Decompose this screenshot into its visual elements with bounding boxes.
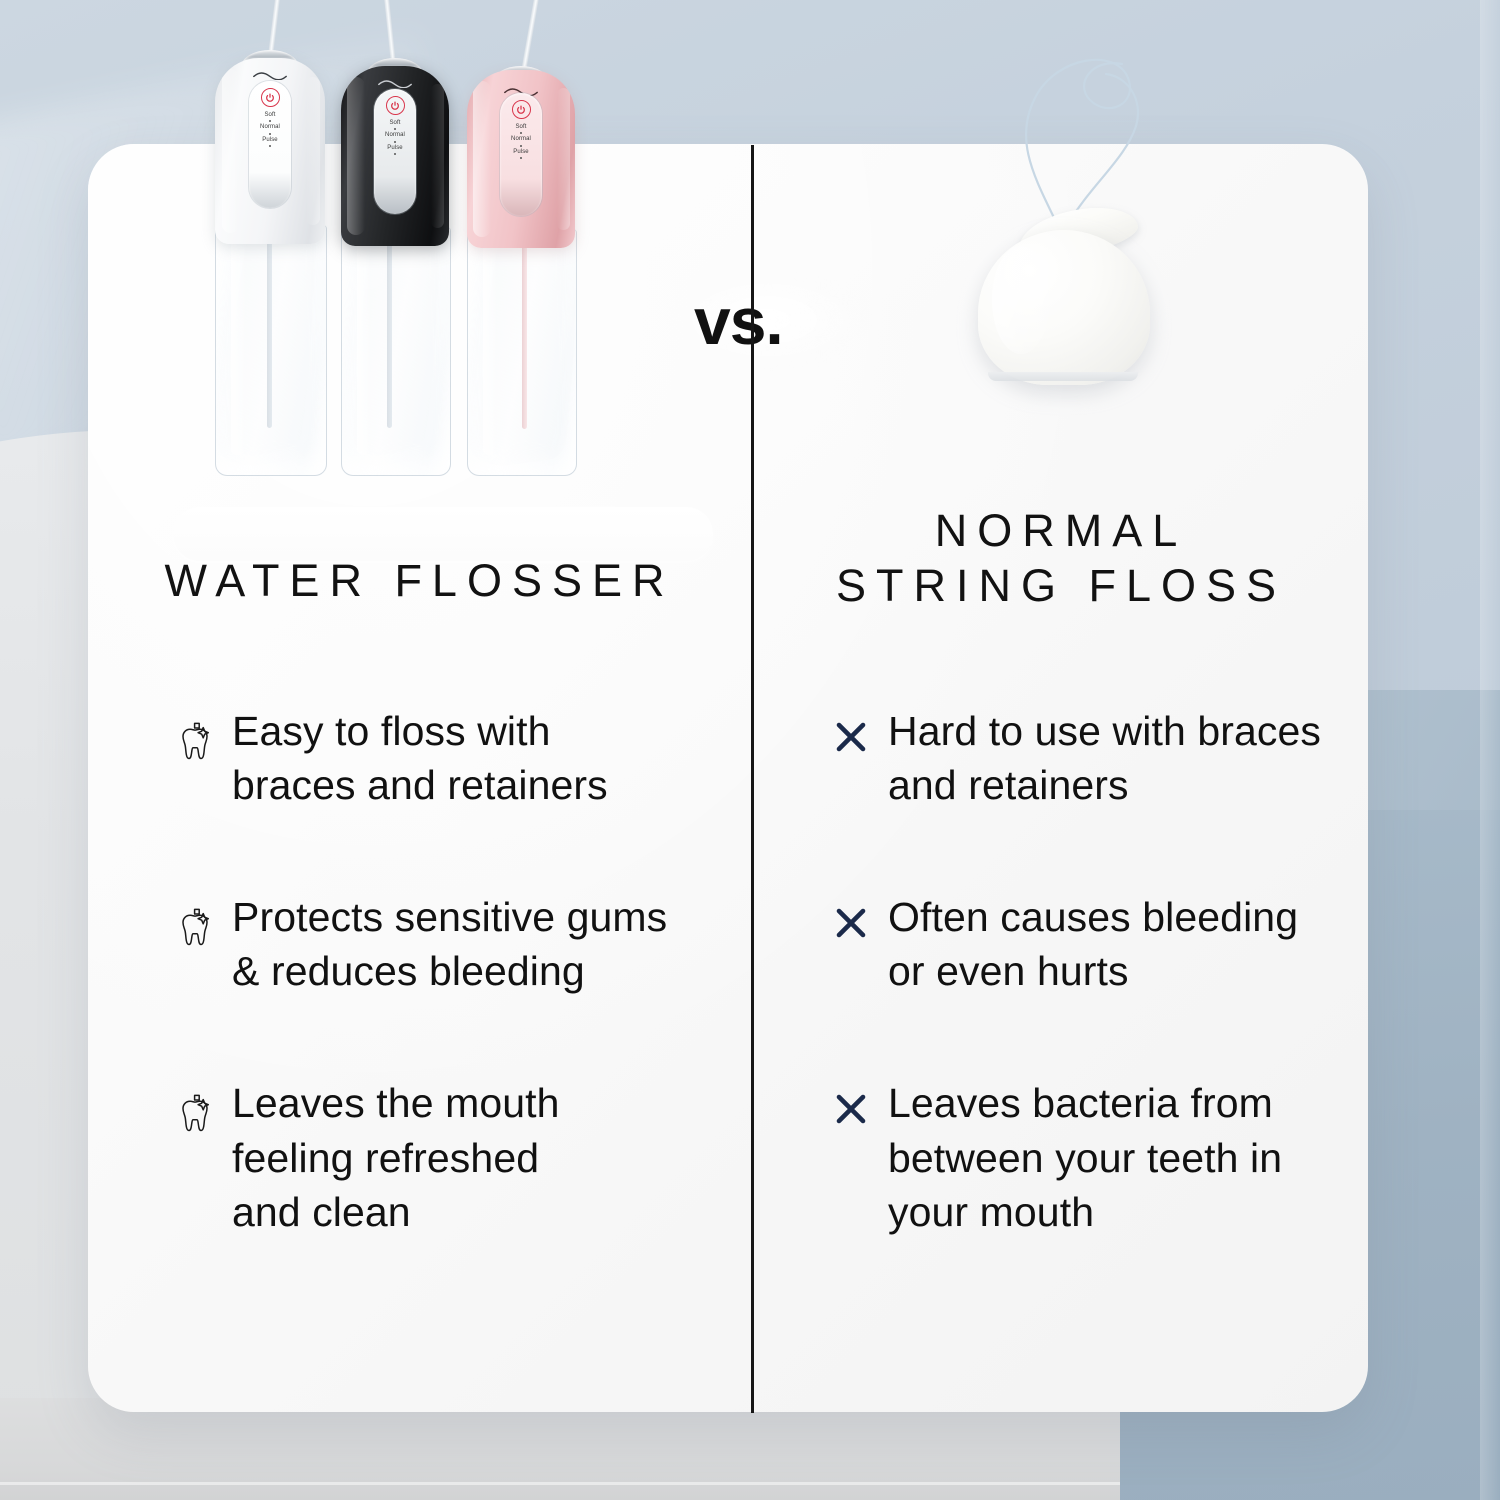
water-tank [341, 227, 451, 476]
wave-emblem [377, 79, 414, 88]
mode-indicator-dot [520, 157, 522, 159]
feature-item: Often causes bleeding or even hurts [814, 890, 1374, 998]
mode-indicator-dot [394, 128, 396, 130]
feature-item: Leaves the mouth feeling refreshed and c… [158, 1076, 758, 1238]
water-tank [215, 225, 327, 476]
feature-mark [158, 704, 232, 770]
feature-mark [158, 1076, 232, 1142]
mode-label: Pulse [262, 137, 278, 143]
heading-string-floss: NORMAL STRING FLOSS [754, 504, 1368, 614]
wave-emblem [251, 71, 288, 80]
feature-mark [814, 1076, 888, 1128]
power-button-icon[interactable] [261, 88, 280, 107]
heading-highlight-pill [173, 507, 713, 561]
versus-label: vs. [694, 284, 783, 358]
handle-sheen-right [306, 77, 319, 226]
feature-mark [158, 890, 232, 956]
tooth-sparkle-icon [169, 718, 221, 770]
string-floss-container [960, 30, 1220, 430]
intake-straw [267, 233, 272, 428]
handle-sheen-right [431, 84, 444, 228]
tooth-sparkle-icon [169, 1090, 221, 1142]
x-icon [832, 904, 870, 942]
mode-indicator-dot [269, 120, 271, 122]
handle-sheen-left [473, 81, 490, 238]
mode-indicator-dot [269, 133, 271, 135]
water-tank [467, 229, 577, 476]
floss-container-base [988, 372, 1138, 381]
mode-indicator-dot [394, 153, 396, 155]
comparison-infographic: WATER FLOSSER Easy to floss with braces … [0, 0, 1500, 1500]
feature-text: Often causes bleeding or even hurts [888, 890, 1298, 998]
mode-list: Soft Normal Pulse [385, 120, 405, 156]
handle-sheen-right [557, 88, 570, 230]
control-panel[interactable]: Soft Normal Pulse [249, 81, 291, 208]
mode-indicator-dot [269, 145, 271, 147]
handle-sheen-left [347, 77, 364, 235]
feature-item: Protects sensitive gums & reduces bleedi… [158, 890, 758, 998]
power-button-icon[interactable] [512, 100, 531, 119]
feature-item: Leaves bacteria from between your teeth … [814, 1076, 1374, 1238]
mode-indicator-dot [520, 132, 522, 134]
feature-list-water-flosser: Easy to floss with braces and retainers … [158, 704, 758, 1239]
nozzle-tip [377, 0, 396, 64]
mode-label: Normal [385, 132, 405, 138]
mode-label: Pulse [513, 149, 529, 155]
background-right-edge-highlight [1480, 0, 1500, 1500]
feature-list-string-floss: Hard to use with braces and retainers Of… [814, 704, 1374, 1239]
intake-straw [522, 237, 527, 429]
mode-indicator-dot [520, 145, 522, 147]
mode-label: Soft [389, 120, 400, 126]
feature-text: Leaves bacteria from between your teeth … [888, 1076, 1282, 1238]
mode-label: Normal [260, 124, 280, 130]
control-panel[interactable]: Soft Normal Pulse [500, 93, 542, 216]
power-button-icon[interactable] [386, 96, 405, 115]
feature-mark [814, 704, 888, 756]
background-grey-band-line [0, 1482, 1120, 1485]
mode-indicator-dot [394, 141, 396, 143]
mode-list: Soft Normal Pulse [260, 112, 280, 148]
versus-label-wrap: vs. [694, 288, 783, 354]
vertical-divider [751, 145, 754, 1413]
water-flosser-device-white: Soft Normal Pulse [215, 16, 325, 476]
feature-text: Hard to use with braces and retainers [888, 704, 1321, 812]
control-panel[interactable]: Soft Normal Pulse [374, 89, 416, 214]
feature-item: Hard to use with braces and retainers [814, 704, 1374, 812]
mode-list: Soft Normal Pulse [511, 124, 531, 160]
feature-text: Protects sensitive gums & reduces bleedi… [232, 890, 667, 998]
tooth-sparkle-icon [169, 904, 221, 956]
x-icon [832, 718, 870, 756]
intake-straw [387, 235, 392, 428]
feature-text: Easy to floss with braces and retainers [232, 704, 608, 812]
water-flosser-trio: Soft Normal Pulse [215, 0, 575, 476]
feature-item: Easy to floss with braces and retainers [158, 704, 758, 812]
handle-sheen-left [222, 69, 240, 233]
water-flosser-device-pink: Soft Normal Pulse [467, 32, 575, 476]
mode-label: Soft [264, 112, 275, 118]
nozzle-tip [521, 0, 547, 72]
feature-mark [814, 890, 888, 942]
heading-water-flosser: WATER FLOSSER [88, 554, 751, 609]
feature-text: Leaves the mouth feeling refreshed and c… [232, 1076, 560, 1238]
mode-label: Soft [515, 124, 526, 130]
floss-container-body [978, 230, 1150, 385]
mode-label: Normal [511, 136, 531, 142]
mode-label: Pulse [387, 145, 403, 151]
water-flosser-device-black: Soft Normal Pulse [341, 26, 449, 476]
nozzle-tip [268, 0, 287, 56]
x-icon [832, 1090, 870, 1128]
